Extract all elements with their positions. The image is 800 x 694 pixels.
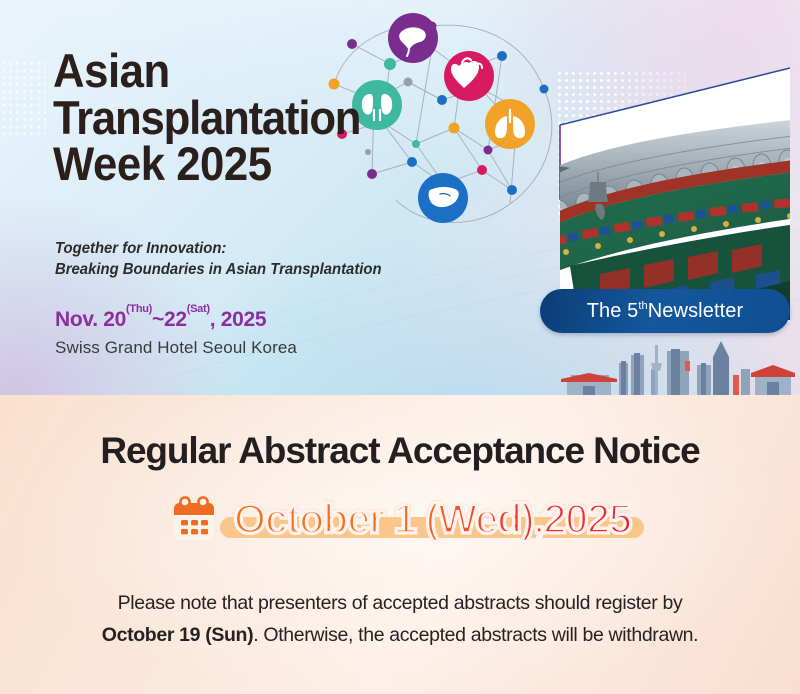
seoul-skyline-graphic	[555, 335, 800, 395]
notice-date-row: October 1 (Wed),2025	[0, 495, 800, 543]
notice-body-line-1: Please note that presenters of accepted …	[118, 592, 683, 614]
event-venue: Swiss Grand Hotel Seoul Korea	[55, 338, 297, 358]
date-superscript-thu: (Thu)	[126, 303, 152, 315]
badge-ordinal-suffix: th	[638, 300, 647, 312]
halftone-dot-pattern-left	[0, 60, 46, 138]
date-superscript-sat: (Sat)	[187, 303, 210, 315]
badge-suffix: Newsletter	[648, 300, 743, 323]
acceptance-date: October 1 (Wed),2025	[234, 498, 631, 540]
event-tagline: Together for Innovation: Breaking Bounda…	[55, 238, 458, 281]
title-line-1: Asian	[53, 48, 444, 95]
date-prefix: Nov. 20	[55, 308, 126, 331]
hero-banner: Asian Transplantation Week 2025 Together…	[0, 0, 800, 395]
title-line-3: Week 2025	[53, 141, 444, 188]
badge-prefix: The 5	[587, 300, 639, 323]
event-dates: Nov. 20(Thu)~22(Sat), 2025	[55, 308, 266, 332]
newsletter-page: Asian Transplantation Week 2025 Together…	[0, 0, 800, 694]
notice-section: Regular Abstract Acceptance Notice	[0, 395, 800, 694]
wind-bell-icon	[576, 168, 636, 258]
register-deadline: October 19 (Sun)	[102, 624, 254, 646]
notice-heading: Regular Abstract Acceptance Notice	[0, 430, 800, 472]
lungs-icon	[485, 99, 535, 149]
acceptance-date-text: October 1 (Wed),2025	[234, 498, 631, 540]
tagline-line-1: Together for Innovation:	[55, 238, 458, 259]
event-title: Asian Transplantation Week 2025	[53, 48, 473, 188]
date-suffix: , 2025	[210, 308, 267, 331]
notice-body: Please note that presenters of accepted …	[0, 588, 800, 651]
gate-right	[751, 365, 795, 395]
date-mid: ~22	[152, 308, 187, 331]
title-line-2: Transplantation	[53, 95, 444, 142]
calendar-icon	[170, 495, 218, 543]
newsletter-badge[interactable]: The 5th Newsletter	[540, 289, 790, 333]
notice-body-line-2: . Otherwise, the accepted abstracts will…	[253, 624, 698, 646]
tagline-line-2: Breaking Boundaries in Asian Transplanta…	[55, 259, 458, 280]
